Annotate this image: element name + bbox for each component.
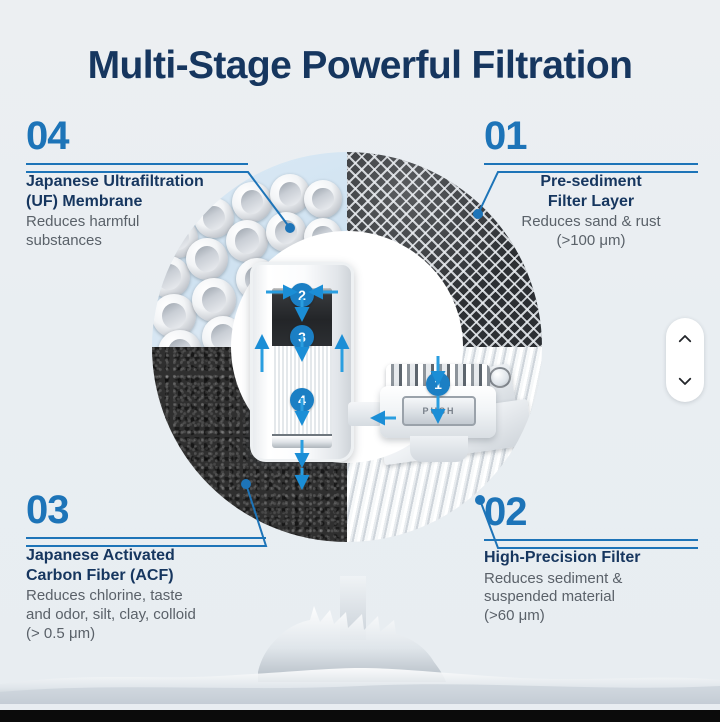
callout-04-heading-line2: (UF) Membrane [26, 192, 248, 212]
callout-04-heading: Japanese Ultrafiltration (UF) Membrane [26, 172, 248, 211]
cartridge-media-stack [272, 288, 332, 448]
callout-04-number: 04 [26, 116, 248, 156]
callout-04-rule [26, 163, 248, 165]
stage-badge-4: 4 [290, 388, 314, 412]
bottom-black-bar [0, 710, 720, 722]
callout-01-body: Reduces sand & rust (>100 μm) [484, 213, 698, 251]
faucet-outlet-pipe [348, 402, 382, 426]
callout-01-heading: Pre-sediment Filter Layer [484, 172, 698, 211]
callout-04-body-line2: substances [26, 232, 248, 251]
callout-02-heading-line1: High-Precision Filter [484, 548, 698, 568]
callout-02-heading: High-Precision Filter [484, 548, 698, 568]
cartridge-base [272, 434, 332, 448]
callout-04-body: Reduces harmful substances [26, 213, 248, 251]
chevron-down-icon[interactable] [676, 372, 694, 390]
callout-02-rule [484, 539, 698, 541]
faucet-neck [410, 436, 468, 462]
callout-03-rule [26, 537, 266, 539]
water-splash-graphic [0, 576, 720, 704]
callout-04: 04 Japanese Ultrafiltration (UF) Membran… [26, 116, 248, 251]
stage-badge-2: 2 [290, 283, 314, 307]
callout-01-body-line1: Reduces sand & rust [484, 213, 698, 232]
infographic-canvas: Multi-Stage Powerful Filtration [0, 0, 720, 722]
image-carousel-nav[interactable] [666, 318, 704, 402]
stage-badge-3: 3 [290, 325, 314, 349]
callout-02-number: 02 [484, 492, 698, 532]
callout-04-body-line1: Reduces harmful [26, 213, 248, 232]
callout-01-heading-line1: Pre-sediment [484, 172, 698, 192]
page-title: Multi-Stage Powerful Filtration [0, 44, 720, 88]
callout-01-number: 01 [484, 116, 698, 156]
callout-01-body-line2: (>100 μm) [484, 232, 698, 251]
stage-badge-1: 1 [426, 372, 450, 396]
callout-03-heading-line1: Japanese Activated [26, 546, 266, 566]
faucet-push-button[interactable]: PUSH [402, 396, 476, 426]
callout-04-heading-line1: Japanese Ultrafiltration [26, 172, 248, 192]
callout-01-rule [484, 163, 698, 165]
callout-01-heading-line2: Filter Layer [484, 192, 698, 212]
chevron-up-icon[interactable] [676, 330, 694, 348]
callout-01: 01 Pre-sediment Filter Layer Reduces san… [484, 116, 698, 251]
callout-03-number: 03 [26, 490, 266, 530]
